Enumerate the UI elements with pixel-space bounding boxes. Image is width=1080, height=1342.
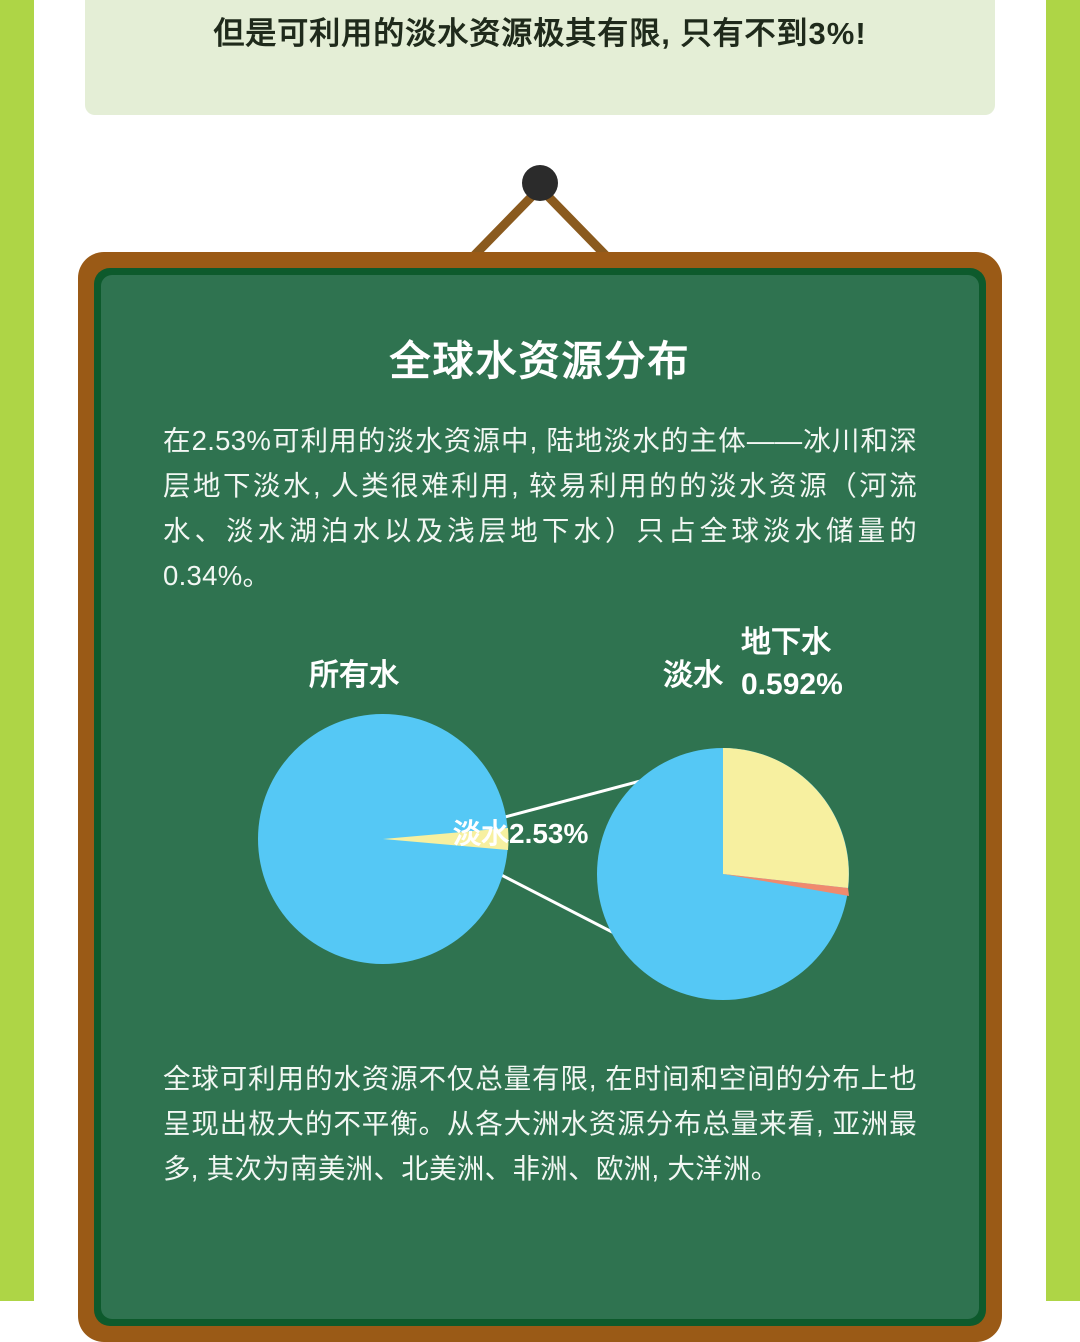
chart-label-ground-water: 地下水 0.592% bbox=[741, 622, 843, 706]
top-banner: 但是可利用的淡水资源极其有限, 只有不到3%! bbox=[85, 0, 995, 115]
hanger-pin-icon bbox=[522, 165, 558, 201]
chalkboard-frame: 全球水资源分布 在2.53%可利用的淡水资源中, 陆地淡水的主体——冰川和深层地… bbox=[78, 252, 1002, 1342]
intro-paragraph: 在2.53%可利用的淡水资源中, 陆地淡水的主体——冰川和深层地下淡水, 人类很… bbox=[163, 418, 917, 598]
closing-paragraph: 全球可利用的水资源不仅总量有限, 在时间和空间的分布上也呈现出极大的不平衡。从各… bbox=[163, 1056, 917, 1191]
chart-label-ground-water-value: 0.592% bbox=[741, 664, 843, 706]
pie-chart-figure: 所有水 淡水 地下水 0.592% 淡水2.53% bbox=[163, 622, 917, 1022]
chalkboard-surface: 全球水资源分布 在2.53%可利用的淡水资源中, 陆地淡水的主体——冰川和深层地… bbox=[101, 275, 979, 1319]
chart-label-ground-water-name: 地下水 bbox=[741, 622, 843, 664]
top-banner-text: 但是可利用的淡水资源极其有限, 只有不到3%! bbox=[213, 8, 866, 53]
pie-slice-groundwater bbox=[723, 748, 849, 888]
chalkboard-inner-edge: 全球水资源分布 在2.53%可利用的淡水资源中, 陆地淡水的主体——冰川和深层地… bbox=[94, 268, 986, 1326]
chart-label-callout-freshwater: 淡水2.53% bbox=[453, 812, 588, 852]
pie-fresh-water bbox=[597, 748, 849, 1000]
board-title: 全球水资源分布 bbox=[163, 327, 917, 387]
chart-label-all-water: 所有水 bbox=[309, 650, 399, 694]
chart-label-fresh-water: 淡水 bbox=[663, 650, 723, 694]
